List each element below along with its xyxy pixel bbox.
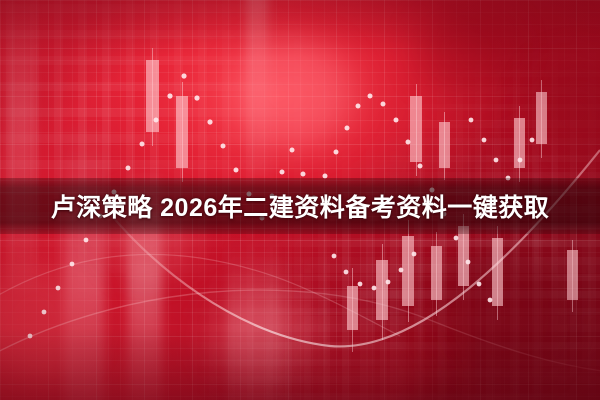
arc-path — [0, 290, 600, 372]
banner-image: 卢深策略 2026年二建资料备考资料一键获取 — [0, 0, 600, 400]
banner-caption: 卢深策略 2026年二建资料备考资料一键获取 — [0, 178, 600, 234]
